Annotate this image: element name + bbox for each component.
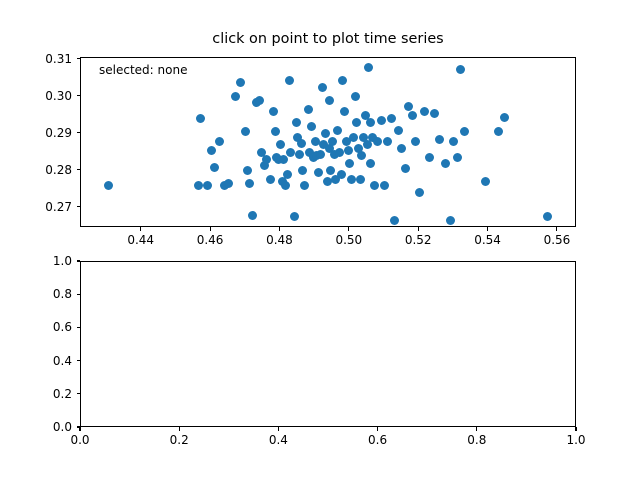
scatter-point[interactable]	[415, 188, 424, 197]
scatter-point[interactable]	[349, 133, 358, 142]
y-axis-tick	[77, 327, 81, 328]
x-axis-tick	[556, 227, 557, 231]
scatter-point[interactable]	[215, 137, 224, 146]
x-axis-tick-label: 0.52	[405, 233, 432, 247]
scatter-point[interactable]	[307, 122, 316, 131]
scatter-point[interactable]	[383, 137, 392, 146]
scatter-point[interactable]	[338, 76, 347, 85]
scatter-point[interactable]	[295, 150, 304, 159]
scatter-point[interactable]	[269, 107, 278, 116]
x-axis-tick	[575, 427, 576, 431]
scatter-point[interactable]	[311, 137, 320, 146]
y-axis-tick-label: 0.6	[0, 320, 72, 334]
scatter-point[interactable]	[344, 146, 353, 155]
scatter-point[interactable]	[279, 155, 288, 164]
y-axis-tick	[77, 58, 81, 59]
scatter-point[interactable]	[262, 155, 271, 164]
scatter-point[interactable]	[104, 181, 113, 190]
scatter-point[interactable]	[224, 179, 233, 188]
scatter-points-layer[interactable]	[81, 58, 575, 226]
x-axis-tick-label: 0.44	[127, 233, 154, 247]
x-axis-tick-label: 0.8	[467, 433, 486, 447]
scatter-point[interactable]	[446, 216, 455, 225]
scatter-point[interactable]	[323, 177, 332, 186]
y-axis-tick-label: 0.8	[0, 287, 72, 301]
scatter-point[interactable]	[243, 166, 252, 175]
scatter-point[interactable]	[357, 151, 366, 160]
scatter-point[interactable]	[283, 170, 292, 179]
y-axis-tick	[77, 206, 81, 207]
y-axis-tick-label: 0.31	[0, 52, 72, 66]
scatter-point[interactable]	[397, 144, 406, 153]
y-axis-tick-label: 0.0	[0, 420, 72, 434]
x-axis-tick-label: 0.56	[544, 233, 571, 247]
scatter-point[interactable]	[298, 166, 307, 175]
scatter-point[interactable]	[266, 175, 275, 184]
scatter-point[interactable]	[425, 153, 434, 162]
scatter-point[interactable]	[500, 113, 509, 122]
scatter-point[interactable]	[326, 166, 335, 175]
scatter-point[interactable]	[435, 135, 444, 144]
scatter-point[interactable]	[248, 211, 257, 220]
scatter-point[interactable]	[460, 127, 469, 136]
scatter-point[interactable]	[314, 168, 323, 177]
scatter-point[interactable]	[430, 109, 439, 118]
x-axis-tick	[278, 427, 279, 431]
scatter-point[interactable]	[543, 212, 552, 221]
scatter-point[interactable]	[255, 96, 264, 105]
scatter-point[interactable]	[333, 126, 342, 135]
y-axis-tick	[77, 132, 81, 133]
x-axis-tick-label: 0.54	[474, 233, 501, 247]
scatter-point[interactable]	[453, 153, 462, 162]
x-axis-tick	[377, 427, 378, 431]
scatter-point[interactable]	[290, 212, 299, 221]
x-axis-tick-label: 0.48	[266, 233, 293, 247]
scatter-point[interactable]	[377, 116, 386, 125]
x-axis-tick-label: 0.50	[335, 233, 362, 247]
x-axis-tick-label: 0.0	[70, 433, 89, 447]
scatter-point[interactable]	[203, 181, 212, 190]
x-axis-tick	[210, 227, 211, 231]
scatter-point[interactable]	[373, 137, 382, 146]
scatter-point[interactable]	[328, 137, 337, 146]
y-axis-tick-label: 1.0	[0, 254, 72, 268]
scatter-point[interactable]	[276, 140, 285, 149]
scatter-point[interactable]	[210, 163, 219, 172]
y-axis-tick-label: 0.30	[0, 89, 72, 103]
scatter-point[interactable]	[286, 148, 295, 157]
scatter-point[interactable]	[380, 181, 389, 190]
scatter-point[interactable]	[337, 170, 346, 179]
scatter-point[interactable]	[196, 114, 205, 123]
scatter-plot-axes[interactable]: selected: none	[80, 57, 576, 227]
scatter-point[interactable]	[494, 127, 503, 136]
x-axis-tick-label: 1.0	[566, 433, 585, 447]
scatter-point[interactable]	[404, 102, 413, 111]
scatter-point[interactable]	[387, 114, 396, 123]
y-axis-tick-label: 0.4	[0, 354, 72, 368]
scatter-point[interactable]	[300, 181, 309, 190]
scatter-point[interactable]	[351, 92, 360, 101]
scatter-point[interactable]	[281, 181, 290, 190]
scatter-point[interactable]	[318, 83, 327, 92]
timeseries-plot-axes[interactable]	[80, 261, 576, 427]
x-axis-tick-label: 0.4	[269, 433, 288, 447]
scatter-point[interactable]	[321, 129, 330, 138]
y-axis-tick	[77, 294, 81, 295]
scatter-point[interactable]	[411, 137, 420, 146]
scatter-point[interactable]	[408, 111, 417, 120]
scatter-point[interactable]	[297, 139, 306, 148]
x-axis-tick	[348, 227, 349, 231]
scatter-point[interactable]	[292, 118, 301, 127]
y-axis-tick-label: 0.27	[0, 200, 72, 214]
scatter-point[interactable]	[316, 150, 325, 159]
y-axis-tick	[77, 426, 81, 427]
scatter-point[interactable]	[347, 175, 356, 184]
x-axis-tick	[476, 427, 477, 431]
y-axis-tick-label: 0.29	[0, 126, 72, 140]
x-axis-tick	[179, 427, 180, 431]
x-axis-tick-label: 0.46	[197, 233, 224, 247]
x-axis-tick-label: 0.2	[170, 433, 189, 447]
y-axis-tick	[77, 393, 81, 394]
y-axis-tick	[77, 169, 81, 170]
scatter-point[interactable]	[394, 126, 403, 135]
x-axis-tick	[279, 227, 280, 231]
scatter-point[interactable]	[325, 96, 334, 105]
y-axis-tick	[77, 260, 81, 261]
scatter-point[interactable]	[236, 78, 245, 87]
scatter-point[interactable]	[231, 92, 240, 101]
scatter-point[interactable]	[420, 107, 429, 116]
y-axis-tick-label: 0.28	[0, 163, 72, 177]
scatter-point[interactable]	[335, 148, 344, 157]
scatter-point[interactable]	[401, 164, 410, 173]
x-axis-tick	[418, 227, 419, 231]
x-axis-tick	[140, 227, 141, 231]
scatter-point[interactable]	[456, 65, 465, 74]
scatter-point[interactable]	[241, 127, 250, 136]
scatter-point[interactable]	[345, 159, 354, 168]
x-axis-tick-label: 0.6	[368, 433, 387, 447]
scatter-point[interactable]	[366, 118, 375, 127]
scatter-point[interactable]	[285, 76, 294, 85]
scatter-point[interactable]	[352, 118, 361, 127]
page-title: click on point to plot time series	[80, 31, 576, 47]
scatter-point[interactable]	[356, 175, 365, 184]
scatter-point[interactable]	[340, 107, 349, 116]
scatter-point[interactable]	[194, 181, 203, 190]
scatter-point[interactable]	[304, 105, 313, 114]
y-axis-tick-label: 0.2	[0, 387, 72, 401]
matplotlib-figure: click on point to plot time series selec…	[0, 0, 640, 480]
scatter-point[interactable]	[370, 181, 379, 190]
scatter-point[interactable]	[441, 159, 450, 168]
x-axis-tick	[487, 227, 488, 231]
scatter-point[interactable]	[449, 137, 458, 146]
scatter-point[interactable]	[366, 159, 375, 168]
scatter-point[interactable]	[481, 177, 490, 186]
y-axis-tick	[77, 95, 81, 96]
scatter-point[interactable]	[207, 146, 216, 155]
scatter-point[interactable]	[390, 216, 399, 225]
scatter-point[interactable]	[245, 179, 254, 188]
y-axis-tick	[77, 360, 81, 361]
scatter-point[interactable]	[271, 127, 280, 136]
scatter-point[interactable]	[364, 63, 373, 72]
